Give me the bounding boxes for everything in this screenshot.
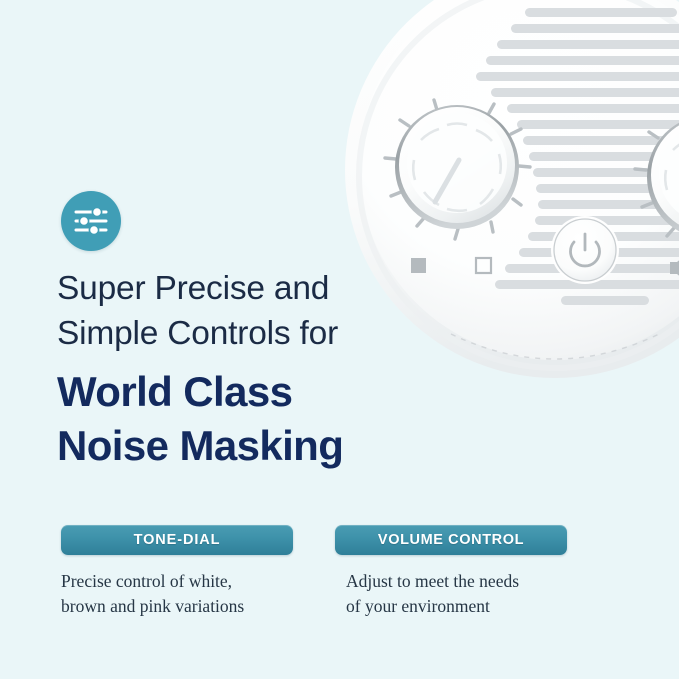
tone-dial-description: Precise control of white, brown and pink… xyxy=(61,569,293,619)
power-icon xyxy=(571,234,600,266)
headline-block: Super Precise and Simple Controls for Wo… xyxy=(57,266,457,473)
speaker-grille xyxy=(476,8,679,305)
feature-column-tone-dial: TONE-DIAL Precise control of white, brow… xyxy=(61,525,293,619)
feature-columns: TONE-DIAL Precise control of white, brow… xyxy=(61,525,621,619)
sliders-icon xyxy=(61,191,121,251)
headline-line-3: World Class xyxy=(57,365,457,419)
volume-dial-ticks xyxy=(635,110,679,249)
device-seam xyxy=(451,334,659,359)
headline-line-2: Simple Controls for xyxy=(57,311,457,356)
tone-dial-ticks xyxy=(385,100,530,239)
tone-dial-knob xyxy=(385,100,530,239)
volume-control-badge[interactable]: VOLUME CONTROL xyxy=(335,525,567,555)
promo-banner: Super Precise and Simple Controls for Wo… xyxy=(0,0,679,679)
outline-square-icon xyxy=(476,258,491,273)
volume-control-desc-line-1: Adjust to meet the needs xyxy=(346,571,519,591)
headline-line-1: Super Precise and xyxy=(57,266,457,311)
tone-dial-desc-line-1: Precise control of white, xyxy=(61,571,232,591)
power-button xyxy=(551,216,619,284)
volume-dial-knob xyxy=(635,110,679,249)
tone-dial-badge[interactable]: TONE-DIAL xyxy=(61,525,293,555)
speaker-icon xyxy=(670,254,679,282)
volume-control-description: Adjust to meet the needs of your environ… xyxy=(346,569,567,619)
volume-control-desc-line-2: of your environment xyxy=(346,596,490,616)
feature-column-volume-control: VOLUME CONTROL Adjust to meet the needs … xyxy=(335,525,567,619)
headline-line-4: Noise Masking xyxy=(57,419,457,473)
tone-dial-desc-line-2: brown and pink variations xyxy=(61,596,244,616)
